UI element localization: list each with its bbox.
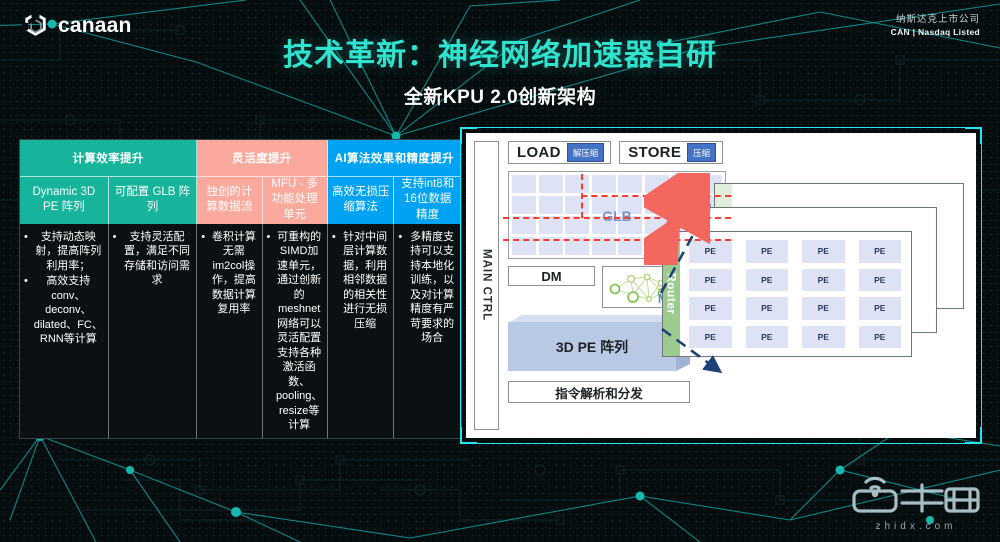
pe-cell: PE <box>689 297 732 320</box>
pe-cell: PE <box>802 240 845 263</box>
table-subheader-0: Dynamic 3D PE 阵列 <box>20 176 109 224</box>
feature-table: 计算效率提升 灵活度提升 AI算法效果和精度提升 Dynamic 3D PE 阵… <box>19 139 462 439</box>
table-bullet: 多精度支持可以支持本地化训练，以及对计算精度有严苛要求的场合 <box>398 230 457 346</box>
store-block: STORE 压缩 <box>619 141 723 164</box>
glb-cell <box>565 175 589 193</box>
dm-block: DM <box>508 266 595 286</box>
table-bullet: 支持灵活配置，满足不同存储和访问需求 <box>113 230 193 288</box>
pe-cell: PE <box>802 297 845 320</box>
pe-cell: PE <box>689 326 732 349</box>
watermark: zhidx.com <box>846 469 986 532</box>
load-label: LOAD <box>517 144 561 161</box>
pe-cell: PE <box>859 326 902 349</box>
router-label-front: Router <box>665 273 679 315</box>
pe-cell: PE <box>689 269 732 292</box>
table-body-row: 支持动态映射，提高阵列利用率；高效支持conv、deconv、dilated、F… <box>20 224 461 438</box>
table-cell-4: 针对中间层计算数据，利用相邻数据的相关性进行无损压缩 <box>328 224 395 438</box>
glb-dashed-line-vertical <box>581 174 583 218</box>
table-group-2: AI算法效果和精度提升 <box>328 140 461 176</box>
pe-cell: PE <box>859 269 902 292</box>
pe-cell: PE <box>802 269 845 292</box>
frame-corner-top-right <box>965 127 982 144</box>
table-group-0: 计算效率提升 <box>20 140 197 176</box>
glb-cell <box>592 175 616 193</box>
table-cell-1: 支持灵活配置，满足不同存储和访问需求 <box>109 224 198 438</box>
table-group-1: 灵活度提升 <box>197 140 328 176</box>
table-subheader-4: 高效无损压缩算法 <box>328 176 395 224</box>
pe-cell: PE <box>746 297 789 320</box>
pe-cell-grid: PEPEPEPEPEPEPEPEPEPEPEPEPEPEPEPE <box>689 240 901 348</box>
page-subtitle: 全新KPU 2.0创新架构 <box>0 82 1000 109</box>
decompress-badge: 解压缩 <box>567 143 605 162</box>
frame-corner-bottom-right <box>965 427 982 444</box>
instruction-dispatch-block: 指令解析和分发 <box>508 381 690 403</box>
load-store-row: LOAD 解压缩 STORE 压缩 <box>508 141 723 164</box>
table-bullet: 卷积计算无需im2col操作，提高数据计算复用率 <box>201 230 257 317</box>
glb-cell <box>512 175 536 193</box>
store-label: STORE <box>628 144 681 161</box>
table-bullet: 高效支持conv、deconv、dilated、FC、RNN等计算 <box>24 274 104 347</box>
table-bullet: 针对中间层计算数据，利用相邻数据的相关性进行无损压缩 <box>332 230 390 332</box>
main-ctrl-label: MAIN CTRL <box>481 249 493 321</box>
architecture-diagram: MAIN CTRL LOAD 解压缩 STORE 压缩 GLB DM <box>466 133 976 438</box>
pe-cell: PE <box>746 326 789 349</box>
table-cell-3: 可重构的SIMD加速单元，通过创新的meshnet网络可以灵活配置支持各种激活函… <box>263 224 328 438</box>
nasdaq-cn: 纳斯达克上市公司 <box>891 14 980 27</box>
pe-cell: PE <box>746 269 789 292</box>
compress-badge: 压缩 <box>687 143 716 162</box>
table-subheader-3: MFU - 多功能处理单元 <box>263 176 328 224</box>
table-bullet: 可重构的SIMD加速单元，通过创新的meshnet网络可以灵活配置支持各种激活函… <box>267 230 323 433</box>
pe-cell: PE <box>746 240 789 263</box>
glb-cell <box>539 175 563 193</box>
watermark-url: zhidx.com <box>846 521 986 532</box>
table-cell-5: 多精度支持可以支持本地化训练，以及对计算精度有严苛要求的场合 <box>394 224 461 438</box>
table-subheader-row: Dynamic 3D PE 阵列 可配置 GLB 阵列 独创的计算数据流 MFU… <box>20 176 461 224</box>
page-title: 技术革新：神经网络加速器自研 <box>0 30 1000 74</box>
table-cell-2: 卷积计算无需im2col操作，提高数据计算复用率 <box>197 224 262 438</box>
slide-root: canaan 纳斯达克上市公司 CAN | Nasdaq Listed 技术革新… <box>0 0 1000 542</box>
main-ctrl-block: MAIN CTRL <box>474 141 499 430</box>
pe-cell: PE <box>859 297 902 320</box>
pe-cell: PE <box>802 326 845 349</box>
table-cell-0: 支持动态映射，提高阵列利用率；高效支持conv、deconv、dilated、F… <box>20 224 109 438</box>
table-subheader-5: 支持int8和16位数据精度 <box>394 176 461 224</box>
red-double-arrow-icon <box>644 173 710 265</box>
table-bullet: 支持动态映射，提高阵列利用率； <box>24 230 104 274</box>
table-subheader-2: 独创的计算数据流 <box>197 176 262 224</box>
pe-cell: PE <box>859 240 902 263</box>
load-block: LOAD 解压缩 <box>508 141 611 164</box>
glb-cell <box>618 175 642 193</box>
pe-3d-front-face: 3D PE 阵列 <box>508 322 676 371</box>
zhidx-logo-icon <box>846 469 986 515</box>
table-group-header-row: 计算效率提升 灵活度提升 AI算法效果和精度提升 <box>20 140 461 176</box>
table-subheader-1: 可配置 GLB 阵列 <box>109 176 198 224</box>
